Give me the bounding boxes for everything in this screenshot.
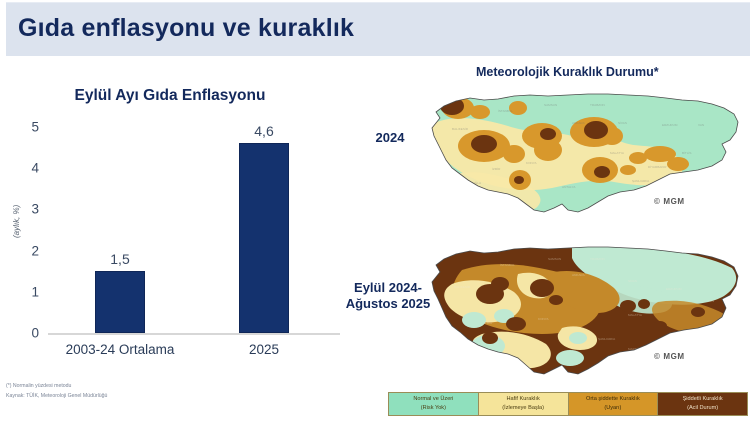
legend-item-subtitle: (Uyarı)	[604, 404, 621, 413]
svg-text:MALATYA: MALATYA	[628, 313, 643, 317]
svg-text:VAN: VAN	[698, 123, 704, 127]
svg-text:İSTANBUL: İSTANBUL	[498, 108, 513, 113]
svg-text:İSTANBUL: İSTANBUL	[500, 262, 515, 267]
chart-x-axis-line	[48, 333, 340, 335]
x-category-1: 2003-24 Ortalama	[66, 342, 175, 357]
chart-title: Eylül Ayı Gıda Enflasyonu	[0, 87, 340, 105]
chart-y-axis-label: (aylık, %)	[12, 205, 21, 238]
legend-item-title: Şiddetli Kuraklık	[683, 395, 723, 404]
legend-item-title: Hafif Kuraklık	[506, 395, 539, 404]
y-tick-0: 0	[31, 326, 39, 341]
svg-text:ERZURUM: ERZURUM	[662, 123, 678, 127]
map-watermark-mgm-period: © MGM	[654, 352, 685, 361]
svg-text:ERZURUM: ERZURUM	[666, 287, 682, 291]
map-turkey-period-svg: ŞANLIURFAMARDİN ŞIRNAKVAN ERZURUMSİVAS A…	[422, 234, 746, 386]
footnote-line-1: (*) Normalin yüzdesi metodu	[6, 382, 107, 392]
footnote: (*) Normalin yüzdesi metodu Kaynak: TÜİK…	[6, 382, 107, 401]
legend-item-subtitle: (İzlemeye Başla)	[502, 404, 544, 413]
y-tick-2: 2	[31, 243, 39, 258]
svg-text:KONYA: KONYA	[538, 317, 550, 321]
svg-text:ŞANLIURFA: ŞANLIURFA	[632, 179, 650, 183]
svg-text:BİTLİS: BİTLİS	[682, 150, 691, 155]
y-tick-1: 1	[31, 284, 39, 299]
svg-text:SİVAS: SİVAS	[618, 120, 627, 125]
bar-value-1: 1,5	[110, 251, 129, 267]
slide-title-band: Gıda enflasyonu ve kuraklık	[6, 2, 750, 56]
legend-item-subtitle: (Risk Yok)	[421, 404, 446, 413]
legend-item-orta-siddette-kuraklik[interactable]: Orta şiddette Kuraklık (Uyarı)	[569, 393, 659, 415]
map-watermark-mgm-2024: © MGM	[654, 197, 685, 206]
y-tick-3: 3	[31, 202, 39, 217]
legend-item-subtitle: (Acil Durum)	[687, 404, 718, 413]
bar-slot-2: 4,6	[192, 127, 336, 333]
svg-text:ANKARA: ANKARA	[572, 121, 586, 125]
svg-text:İZMİR: İZMİR	[492, 166, 501, 171]
map-section-title: Meteorolojik Kuraklık Durumu*	[476, 65, 659, 79]
svg-text:TRABZON: TRABZON	[590, 103, 605, 107]
bar-2025[interactable]	[239, 143, 289, 333]
x-category-2: 2025	[249, 342, 279, 357]
svg-text:VAN: VAN	[708, 299, 714, 303]
svg-text:DİYARBAKIR: DİYARBAKIR	[648, 164, 667, 169]
svg-text:MALATYA: MALATYA	[610, 151, 625, 155]
bar-chart-panel: Eylül Ayı Gıda Enflasyonu (aylık, %) 0 1…	[0, 60, 360, 380]
svg-text:SAMSUN: SAMSUN	[544, 103, 557, 107]
svg-text:İZMİR: İZMİR	[484, 320, 493, 325]
svg-text:BALIKESİR: BALIKESİR	[454, 284, 471, 289]
y-tick-4: 4	[31, 161, 39, 176]
svg-text:SAMSUN: SAMSUN	[548, 257, 561, 261]
y-tick-5: 5	[31, 120, 39, 135]
footnote-line-2: Kaynak: TÜİK, Meteoroloji Genel Müdürlüğ…	[6, 392, 107, 402]
bar-value-2: 4,6	[254, 123, 273, 139]
svg-text:KONYA: KONYA	[526, 161, 538, 165]
legend-item-title: Orta şiddette Kuraklık	[586, 395, 640, 404]
bar-slot-1: 1,5	[48, 127, 192, 333]
page-title: Gıda enflasyonu ve kuraklık	[18, 14, 354, 43]
slide-canvas: Gıda enflasyonu ve kuraklık Eylül Ayı Gı…	[0, 0, 750, 421]
drought-map-panel: Meteorolojik Kuraklık Durumu* 2024 Eylül…	[336, 58, 750, 388]
legend-item-normal-ve-uzeri[interactable]: Normal ve Üzeri (Risk Yok)	[389, 393, 479, 415]
legend-item-hafif-kuraklik[interactable]: Hafif Kuraklık (İzlemeye Başla)	[479, 393, 569, 415]
svg-text:ŞANLIURFA: ŞANLIURFA	[598, 337, 616, 341]
svg-text:SİVAS: SİVAS	[628, 278, 637, 283]
svg-text:ŞIRNAK: ŞIRNAK	[668, 341, 680, 345]
legend-item-siddetli-kuraklik[interactable]: Şiddetli Kuraklık (Acil Durum)	[658, 393, 747, 415]
svg-text:BALIKESİR: BALIKESİR	[452, 126, 469, 131]
bar-2003-24-ortalama[interactable]	[95, 271, 145, 333]
chart-plot-area: 0 1 2 3 4 5 1,5 4,6	[48, 127, 336, 333]
legend-item-title: Normal ve Üzeri	[413, 395, 453, 404]
svg-text:ANTALYA: ANTALYA	[562, 185, 576, 189]
drought-legend: Normal ve Üzeri (Risk Yok) Hafif Kuraklı…	[388, 392, 748, 416]
map-turkey-2024[interactable]: BALIKESİRİZMİR KONYAANKARA SİVASERZURUM …	[422, 84, 746, 224]
svg-text:ANKARA: ANKARA	[572, 273, 586, 277]
map-turkey-eylul-2024-agustos-2025[interactable]: ŞANLIURFAMARDİN ŞIRNAKVAN ERZURUMSİVAS A…	[422, 234, 746, 386]
svg-text:TRABZON: TRABZON	[590, 257, 605, 261]
map-turkey-2024-svg: BALIKESİRİZMİR KONYAANKARA SİVASERZURUM …	[422, 84, 746, 224]
